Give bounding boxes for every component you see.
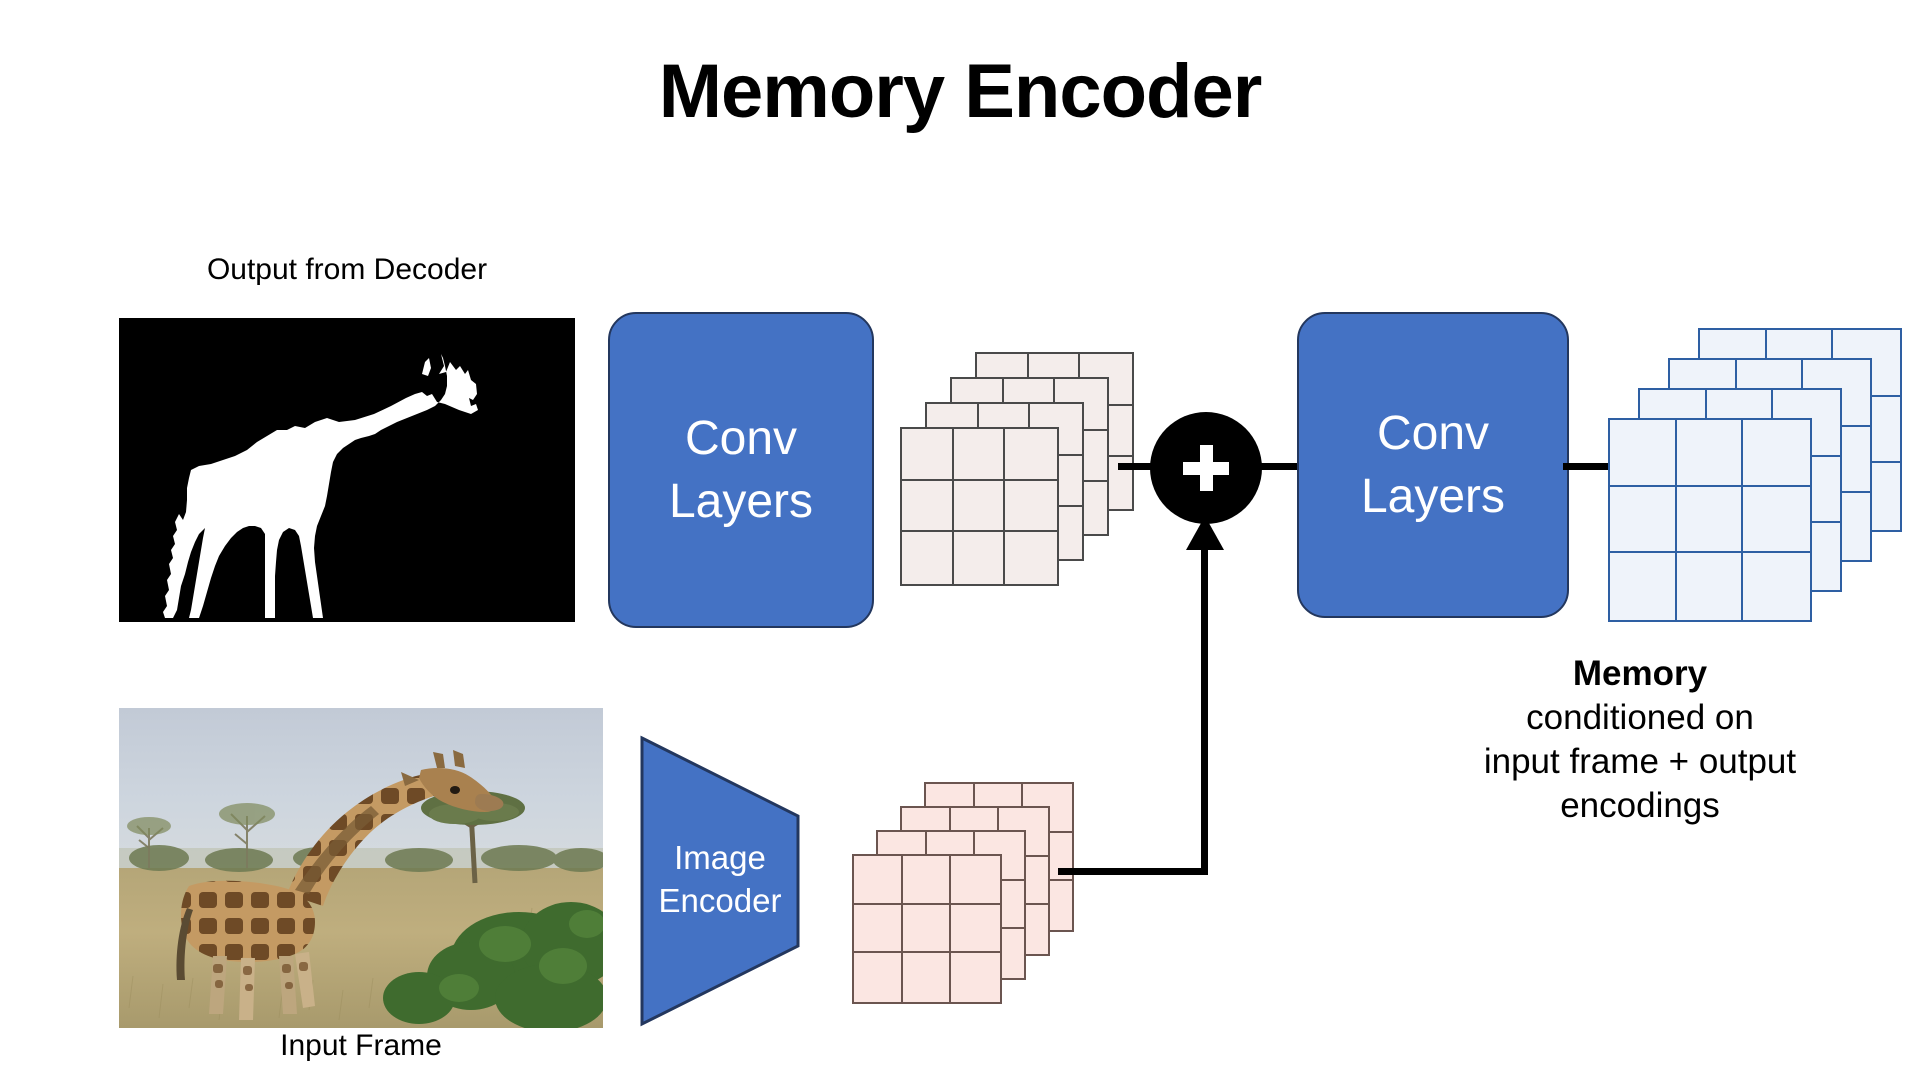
input-frame-label: Input Frame xyxy=(119,1028,603,1063)
memory-caption-line2: input frame + output xyxy=(1380,740,1900,784)
feature-sheet xyxy=(1608,418,1812,622)
memory-feature-map-stack xyxy=(1608,328,1898,618)
memory-caption-line3: encodings xyxy=(1380,784,1900,828)
connector-image-features-horizontal xyxy=(1058,868,1208,875)
page-title: Memory Encoder xyxy=(0,48,1920,135)
image-feature-map-stack xyxy=(852,782,1070,1000)
giraffe-savanna-photo xyxy=(119,708,603,1028)
feature-sheet xyxy=(852,854,1002,1004)
input-frame-image xyxy=(119,708,603,1028)
giraffe-mask-silhouette xyxy=(119,318,575,622)
image-encoder-line1: Image xyxy=(659,837,782,880)
image-encoder-block[interactable]: Image Encoder xyxy=(640,730,826,1030)
conv-layers-block-right[interactable]: Conv Layers xyxy=(1297,312,1569,618)
memory-caption-line1: conditioned on xyxy=(1380,696,1900,740)
memory-caption: Memory conditioned on input frame + outp… xyxy=(1380,652,1900,828)
connector-conv-right-to-memory xyxy=(1563,463,1611,470)
connector-adder-to-conv-right xyxy=(1258,463,1300,470)
connector-image-features-vertical xyxy=(1201,548,1208,875)
conv-left-line1: Conv xyxy=(685,407,797,470)
feature-sheet xyxy=(900,427,1059,586)
conv-layers-block-left[interactable]: Conv Layers xyxy=(608,312,874,628)
mask-feature-map-stack xyxy=(900,352,1130,582)
conv-right-line1: Conv xyxy=(1377,402,1489,465)
image-encoder-line2: Encoder xyxy=(659,880,782,923)
conv-right-line2: Layers xyxy=(1361,465,1505,528)
connector-arrowhead-up xyxy=(1186,516,1224,550)
adder-node[interactable] xyxy=(1150,412,1262,524)
decoder-mask-image xyxy=(119,318,575,622)
conv-left-line2: Layers xyxy=(669,470,813,533)
memory-caption-heading: Memory xyxy=(1573,654,1707,693)
output-from-decoder-label: Output from Decoder xyxy=(119,252,575,287)
